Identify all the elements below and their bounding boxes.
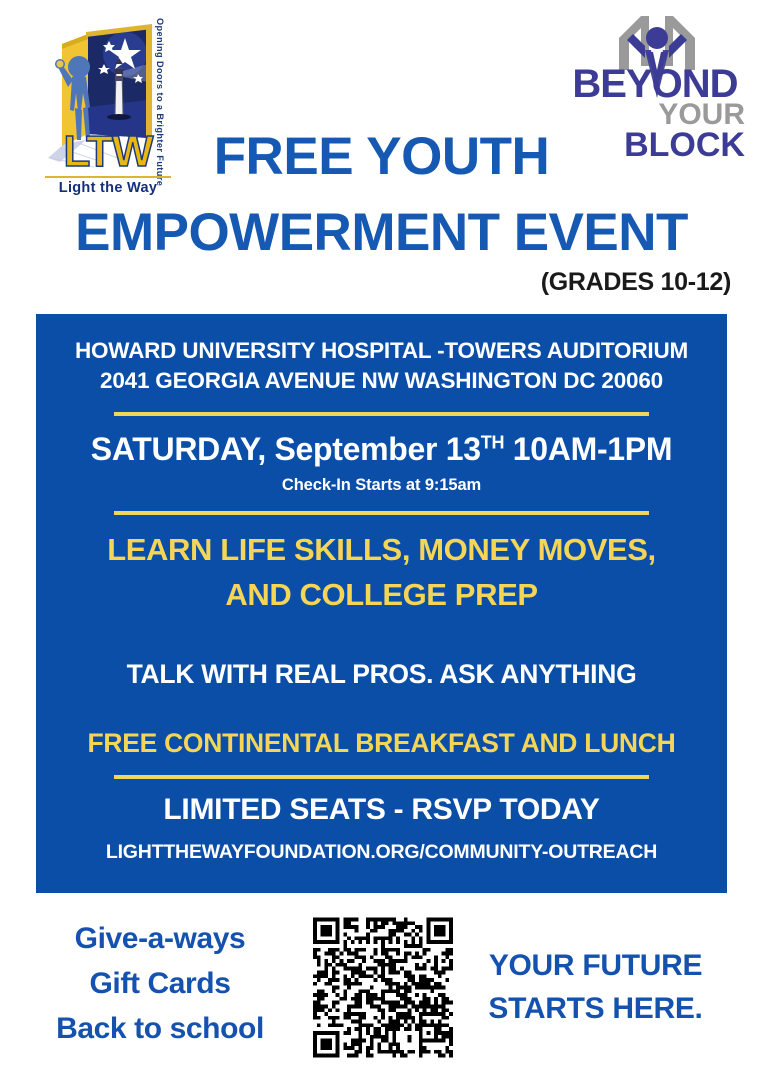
divider-bottom: [114, 775, 649, 779]
divider-middle: [114, 511, 649, 515]
talk-line: TALK WITH REAL PROS. ASK ANYTHING: [56, 659, 707, 690]
headline-line-1: FREE YOUTH: [0, 128, 763, 186]
venue-line-2: 2041 GEORGIA AVENUE NW WASHINGTON DC 200…: [56, 366, 707, 396]
learn-line-2: AND COLLEGE PREP: [56, 574, 707, 615]
date-ordinal: TH: [481, 432, 504, 452]
qr-code-image[interactable]: [313, 917, 453, 1058]
rsvp-url: LIGHTTHEWAYFOUNDATION.ORG/COMMUNITY-OUTR…: [56, 841, 707, 864]
breakfast-line: FREE CONTINENTAL BREAKFAST AND LUNCH: [56, 728, 707, 759]
date-prefix: SATURDAY, September 13: [91, 431, 481, 467]
divider-top: [114, 412, 649, 416]
date-suffix: 10AM-1PM: [504, 431, 672, 467]
tagline-line-1: YOUR FUTURE: [458, 944, 733, 987]
event-details-panel: HOWARD UNIVERSITY HOSPITAL -TOWERS AUDIT…: [36, 314, 727, 893]
giveaways-block: Give-a-ways Gift Cards Back to school: [30, 916, 290, 1051]
tagline-line-2: STARTS HERE.: [458, 987, 733, 1030]
headline-line-2: EMPOWERMENT EVENT: [0, 202, 763, 264]
tagline-block: YOUR FUTURE STARTS HERE.: [458, 944, 733, 1030]
ltw-vertical-text: Opening Doors to a Brighter Future: [155, 18, 165, 34]
giveaways-line-1: Give-a-ways: [30, 916, 290, 961]
qr-code[interactable]: [313, 917, 453, 1058]
checkin-note: Check-In Starts at 9:15am: [56, 476, 707, 495]
venue-line-1: HOWARD UNIVERSITY HOSPITAL -TOWERS AUDIT…: [56, 336, 707, 366]
rsvp-line: LIMITED SEATS - RSVP TODAY: [56, 793, 707, 827]
grades-note: (GRADES 10-12): [541, 268, 731, 297]
giveaways-line-3: Back to school: [30, 1006, 290, 1051]
learn-line-1: LEARN LIFE SKILLS, MONEY MOVES,: [56, 529, 707, 570]
event-date: SATURDAY, September 13TH 10AM-1PM: [56, 430, 707, 468]
bottom-row: Give-a-ways Gift Cards Back to school YO…: [0, 900, 763, 1080]
headline: FREE YOUTH EMPOWERMENT EVENT: [0, 128, 763, 264]
giveaways-line-2: Gift Cards: [30, 961, 290, 1006]
